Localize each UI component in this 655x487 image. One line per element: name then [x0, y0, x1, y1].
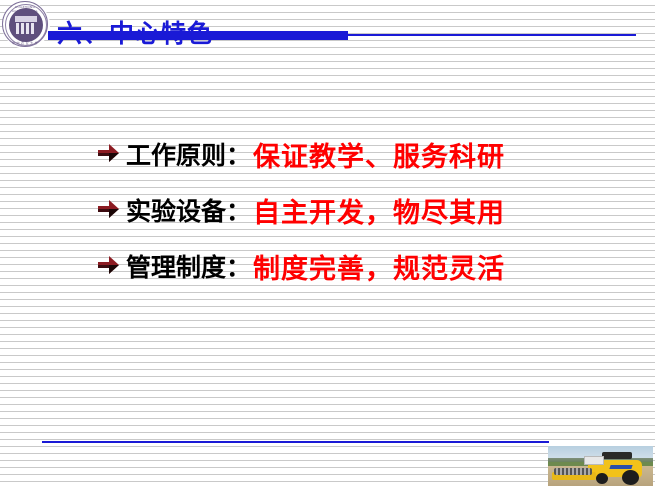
list-item-label: 实验设备：	[126, 192, 251, 228]
list-item-label: 工作原则：	[126, 136, 251, 172]
arrow-bullet-icon	[96, 198, 126, 222]
seal-disc	[9, 8, 43, 42]
presentation-slide: HUAZHONG AGRICULTURAL UNIVERSITY 华 中 农 业…	[0, 0, 655, 487]
arrow-bullet-icon	[96, 142, 126, 166]
footer-divider	[42, 441, 549, 443]
harvester-reel	[554, 468, 592, 475]
university-seal-icon: HUAZHONG AGRICULTURAL UNIVERSITY 华 中 农 业…	[2, 1, 50, 49]
seal-building-roof	[15, 16, 37, 22]
seal-building-column	[31, 23, 34, 34]
harvester-front-wheel	[622, 470, 639, 485]
title-underline-bar	[48, 31, 348, 40]
seal-building-glyph	[15, 16, 37, 34]
harvester-cab	[584, 456, 604, 465]
harvester-stripe	[609, 465, 632, 469]
arrow-bullet-icon	[96, 254, 126, 278]
seal-building-column	[26, 23, 29, 34]
list-item: 管理制度： 制度完善，规范灵活	[96, 238, 566, 294]
list-item-label: 管理制度：	[126, 248, 251, 284]
harvester-rear-wheel	[596, 473, 608, 484]
bullet-list: 工作原则： 保证教学、服务科研 实验设备： 自主开发，物尽其用	[96, 126, 566, 294]
list-item: 实验设备： 自主开发，物尽其用	[96, 182, 566, 238]
list-item-value: 保证教学、服务科研	[251, 135, 505, 174]
seal-building-column	[21, 23, 24, 34]
seal-building-column	[16, 23, 19, 34]
list-item: 工作原则： 保证教学、服务科研	[96, 126, 566, 182]
list-item-value: 自主开发，物尽其用	[251, 191, 505, 230]
title-underline-rule	[348, 34, 636, 36]
harvester-cab-roof	[602, 452, 632, 459]
list-item-value: 制度完善，规范灵活	[251, 247, 505, 286]
combine-harvester-photo	[548, 446, 653, 486]
